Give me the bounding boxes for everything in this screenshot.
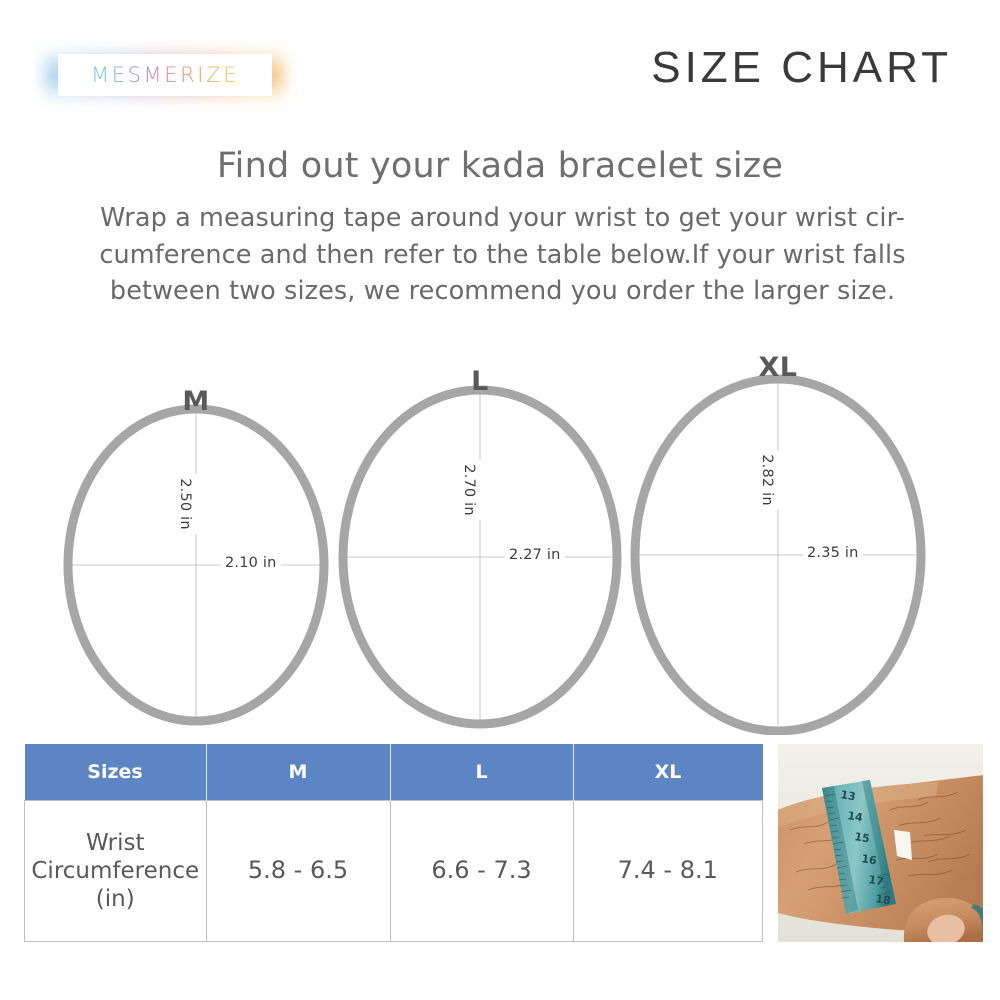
oval-svg-xl [625,360,930,735]
oval-diagram-group: M 2.50 in 2.10 in L 2.70 in 2.27 in XL 2… [0,350,1000,745]
oval-height-label-l: 2.70 in [457,460,481,520]
logo-plate: MESMERIZE [58,54,272,96]
table-row: Wrist Circumference (in) 5.8 - 6.5 6.6 -… [25,801,763,942]
oval-svg-l [333,372,625,732]
oval-size-label-m: M [176,388,216,415]
size-chart-page: MESMERIZE SIZE CHART Find out your kada … [0,0,1000,1000]
cell-wrist-circumference-l: 6.6 - 7.3 [390,801,573,942]
tape-mark-18: 18 [875,892,892,907]
oval-size-label-xl: XL [753,354,803,381]
size-table: Sizes M L XL Wrist Circumference (in) 5.… [24,744,763,942]
table-header-row: Sizes M L XL [25,744,763,801]
row-header-line-3: (in) [96,886,135,912]
size-table-head: Sizes M L XL [25,744,763,801]
row-header-line-2: Circumference [31,858,199,884]
tape-mark-17: 17 [868,873,885,888]
oval-width-label-l: 2.27 in [505,547,565,563]
oval-svg-m [58,390,333,730]
column-header-m: M [206,744,390,801]
intro-line-3: between two sizes, we recommend you orde… [50,273,955,310]
oval-diagram-l: L 2.70 in 2.27 in [333,372,625,732]
intro-line-2: cumference and then refer to the table b… [50,237,955,274]
wrist-photo-illustration: 13 14 15 16 17 18 [778,744,983,942]
headline: Find out your kada bracelet size [0,146,1000,186]
oval-height-label-m: 2.50 in [173,474,197,534]
logo-wordmark: MESMERIZE [91,63,239,87]
tape-mark-14: 14 [847,809,864,824]
row-header-line-1: Wrist [86,830,145,856]
intro-line-1: Wrap a measuring tape around your wrist … [50,200,955,237]
cell-wrist-circumference-xl: 7.4 - 8.1 [573,801,763,942]
wrist-measurement-photo: 13 14 15 16 17 18 [778,744,983,942]
column-header-l: L [390,744,573,801]
oval-size-label-l: L [460,368,500,395]
row-header-wrist-circumference: Wrist Circumference (in) [25,801,207,942]
tape-mark-16: 16 [861,852,878,867]
brand-logo: MESMERIZE [44,44,284,106]
oval-diagram-m: M 2.50 in 2.10 in [58,390,333,730]
oval-diagram-xl: XL 2.82 in 2.35 in [625,360,930,735]
intro-paragraph: Wrap a measuring tape around your wrist … [50,200,955,310]
tape-mark-13: 13 [840,788,857,803]
column-header-sizes: Sizes [25,744,207,801]
tape-mark-15: 15 [854,830,871,845]
cell-wrist-circumference-m: 5.8 - 6.5 [206,801,390,942]
oval-width-label-m: 2.10 in [221,555,281,571]
oval-width-label-xl: 2.35 in [803,545,863,561]
column-header-xl: XL [573,744,763,801]
page-title: SIZE CHART [651,46,952,90]
oval-height-label-xl: 2.82 in [755,450,779,510]
size-table-body: Wrist Circumference (in) 5.8 - 6.5 6.6 -… [25,801,763,942]
